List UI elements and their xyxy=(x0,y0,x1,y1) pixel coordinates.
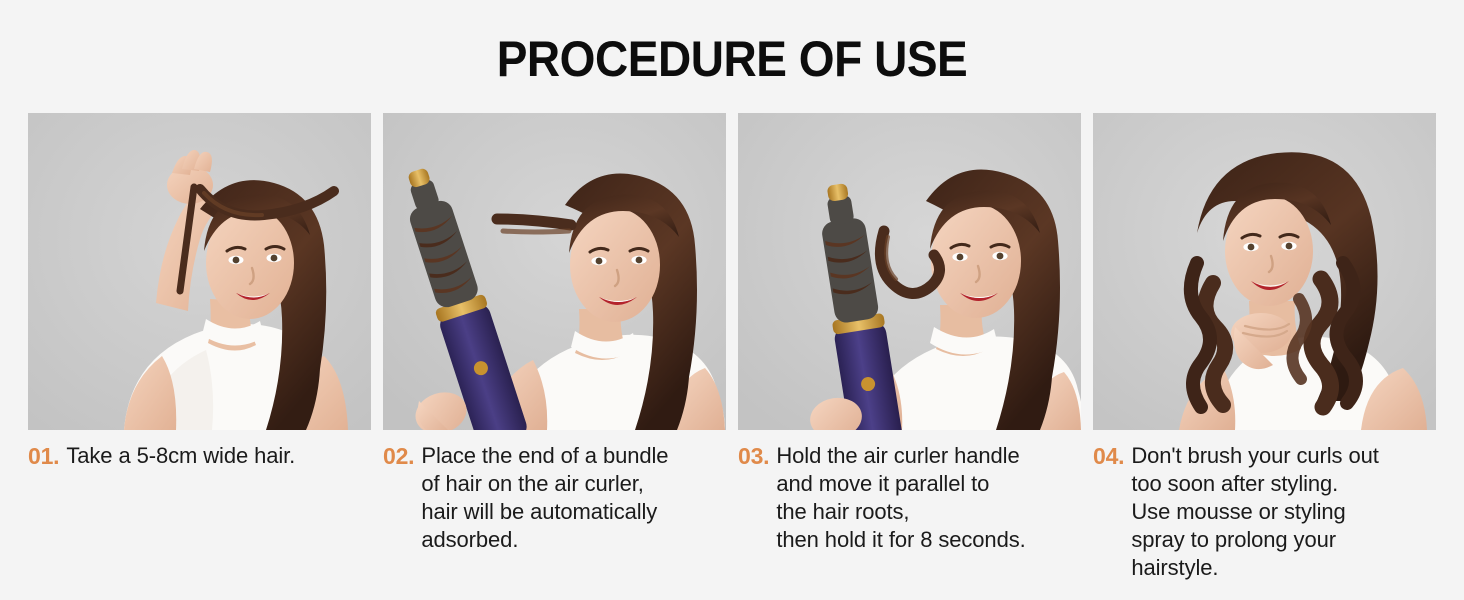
step-caption-02: 02. Place the end of a bundle of hair on… xyxy=(383,442,726,554)
step-caption-01: 01. Take a 5-8cm wide hair. xyxy=(28,442,371,470)
step-card-02: 02. Place the end of a bundle of hair on… xyxy=(383,113,726,582)
step-photo-03 xyxy=(738,113,1081,430)
procedure-of-use-infographic: PROCEDURE OF USE xyxy=(0,0,1464,600)
step-number-02: 02. xyxy=(383,442,414,470)
step-photo-01 xyxy=(28,113,371,430)
step-text-04: Don't brush your curls out too soon afte… xyxy=(1131,442,1432,582)
step-text-02: Place the end of a bundle of hair on the… xyxy=(421,442,722,554)
step-image-03 xyxy=(738,113,1081,430)
steps-grid: 01. Take a 5-8cm wide hair. xyxy=(28,113,1436,582)
step-photo-04 xyxy=(1093,113,1436,430)
step-caption-03: 03. Hold the air curler handle and move … xyxy=(738,442,1081,554)
page-title: PROCEDURE OF USE xyxy=(59,34,1406,84)
step-number-01: 01. xyxy=(28,442,59,470)
step-caption-04: 04. Don't brush your curls out too soon … xyxy=(1093,442,1436,582)
step-text-01: Take a 5-8cm wide hair. xyxy=(66,442,367,470)
step-photo-02 xyxy=(383,113,726,430)
step-image-01 xyxy=(28,113,371,430)
step-number-03: 03. xyxy=(738,442,769,470)
step-card-04: 04. Don't brush your curls out too soon … xyxy=(1093,113,1436,582)
step-card-03: 03. Hold the air curler handle and move … xyxy=(738,113,1081,582)
step-card-01: 01. Take a 5-8cm wide hair. xyxy=(28,113,371,582)
step-text-03: Hold the air curler handle and move it p… xyxy=(776,442,1077,554)
step-image-04 xyxy=(1093,113,1436,430)
step-image-02 xyxy=(383,113,726,430)
step-number-04: 04. xyxy=(1093,442,1124,470)
